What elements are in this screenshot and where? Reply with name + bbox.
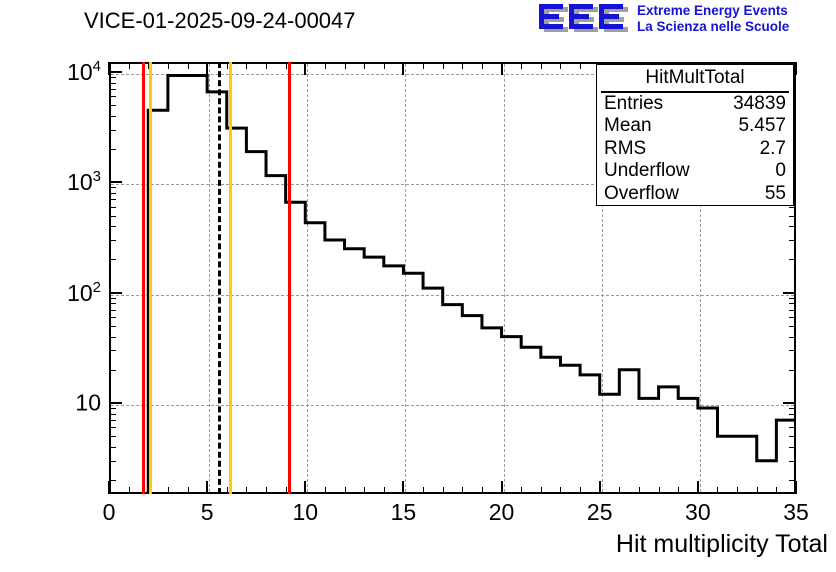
eee-logo-text: Extreme Energy Events La Scienza nelle S… <box>637 3 789 35</box>
y-tick-right-minor <box>789 207 796 208</box>
page-title: VICE-01-2025-09-24-00047 <box>84 8 356 34</box>
y-tick-minor <box>109 83 116 84</box>
stats-row-key: Entries <box>604 93 663 115</box>
x-tick-minor <box>659 487 660 494</box>
x-tick-minor <box>541 487 542 494</box>
y-tick-right-minor <box>789 436 796 437</box>
x-tick-minor <box>521 487 522 494</box>
marker-line-upper-threshold-red <box>288 62 291 494</box>
x-tick-minor <box>325 487 326 494</box>
x-tick-top-minor <box>521 62 522 69</box>
x-tick-minor <box>266 487 267 494</box>
x-tick-top-minor <box>286 62 287 69</box>
y-tick-minor <box>109 350 116 351</box>
y-tick-right-minor <box>789 408 796 409</box>
y-tick-minor <box>109 207 116 208</box>
y-tick-minor <box>109 193 116 194</box>
y-tick-minor <box>109 240 116 241</box>
x-tick-top-major <box>501 62 503 75</box>
stats-title: HitMultTotal <box>601 65 789 93</box>
x-tick-major <box>697 481 699 494</box>
y-tick-minor <box>109 303 116 304</box>
x-tick-top-minor <box>246 62 247 69</box>
y-tick-right-minor <box>789 350 796 351</box>
x-tick-top-minor <box>580 62 581 69</box>
x-tick-minor <box>168 487 169 494</box>
x-tick-minor <box>148 487 149 494</box>
y-tick-right-minor <box>789 480 796 481</box>
y-tick-label: 104 <box>67 58 101 86</box>
stats-row: Overflow55 <box>597 183 793 205</box>
x-tick-top-minor <box>168 62 169 69</box>
stats-row-key: Mean <box>604 115 652 137</box>
x-tick-label: 0 <box>103 499 116 526</box>
x-tick-label: 30 <box>685 499 711 526</box>
x-tick-major <box>206 481 208 494</box>
x-tick-top-major <box>304 62 306 75</box>
marker-line-upper-warn-orange <box>229 62 232 494</box>
x-tick-minor <box>678 487 679 494</box>
marker-line-lower-threshold-red <box>142 62 145 494</box>
x-tick-top-minor <box>148 62 149 69</box>
stats-row-value: 34839 <box>733 93 786 115</box>
stats-row: RMS2.7 <box>597 138 793 160</box>
x-tick-minor <box>757 487 758 494</box>
stats-row-key: Underflow <box>604 160 690 182</box>
x-tick-label: 20 <box>489 499 515 526</box>
y-tick-minor <box>109 96 116 97</box>
x-tick-top-major <box>206 62 208 75</box>
stats-row-value: 5.457 <box>738 115 786 137</box>
x-tick-top-minor <box>541 62 542 69</box>
y-tick-minor <box>109 310 116 311</box>
x-tick-minor <box>129 487 130 494</box>
x-tick-label: 35 <box>783 499 809 526</box>
y-tick-right-minor <box>789 298 796 299</box>
x-tick-major <box>304 481 306 494</box>
x-tick-label: 25 <box>587 499 613 526</box>
x-tick-minor <box>580 487 581 494</box>
y-tick-major <box>109 402 122 404</box>
x-tick-top-minor <box>129 62 130 69</box>
y-tick-minor <box>109 199 116 200</box>
x-tick-major <box>402 481 404 494</box>
x-tick-top-minor <box>227 62 228 69</box>
x-tick-minor <box>639 487 640 494</box>
x-tick-minor <box>717 487 718 494</box>
x-tick-top-minor <box>266 62 267 69</box>
y-tick-minor <box>109 461 116 462</box>
y-tick-right-minor <box>789 226 796 227</box>
x-tick-top-minor <box>443 62 444 69</box>
x-tick-top-major <box>795 62 797 75</box>
y-tick-major <box>109 292 122 294</box>
y-tick-minor <box>109 105 116 106</box>
x-tick-major <box>501 481 503 494</box>
y-tick-minor <box>109 337 116 338</box>
x-tick-top-minor <box>345 62 346 69</box>
y-tick-right-minor <box>789 216 796 217</box>
stats-row-value: 2.7 <box>760 138 786 160</box>
x-tick-minor <box>423 487 424 494</box>
y-tick-minor <box>109 116 116 117</box>
x-tick-minor <box>482 487 483 494</box>
stats-row: Entries34839 <box>597 93 793 115</box>
x-tick-minor <box>776 487 777 494</box>
stats-row-key: RMS <box>604 138 646 160</box>
x-tick-major <box>795 481 797 494</box>
y-tick-label: 103 <box>67 169 101 197</box>
y-tick-minor <box>109 149 116 150</box>
y-tick-right-minor <box>789 310 796 311</box>
y-tick-minor <box>109 436 116 437</box>
x-tick-minor <box>619 487 620 494</box>
y-tick-right-minor <box>789 337 796 338</box>
x-tick-minor <box>560 487 561 494</box>
x-tick-minor <box>286 487 287 494</box>
x-tick-top-minor <box>364 62 365 69</box>
y-tick-right-major <box>783 402 796 404</box>
eee-logo-line1: Extreme Energy Events <box>637 3 789 19</box>
x-tick-major <box>108 481 110 494</box>
y-tick-right-minor <box>789 259 796 260</box>
x-tick-minor <box>364 487 365 494</box>
y-tick-right-minor <box>789 326 796 327</box>
y-tick-minor <box>109 259 116 260</box>
y-tick-right-minor <box>789 427 796 428</box>
y-tick-major <box>109 181 122 183</box>
x-tick-minor <box>188 487 189 494</box>
x-axis-title: Hit multiplicity Total <box>616 530 828 559</box>
x-tick-label: 5 <box>201 499 214 526</box>
x-tick-top-major <box>108 62 110 75</box>
y-tick-minor <box>109 298 116 299</box>
y-tick-minor <box>109 77 116 78</box>
x-tick-top-minor <box>482 62 483 69</box>
y-tick-right-minor <box>789 414 796 415</box>
stats-box[interactable]: HitMultTotal Entries34839Mean5.457RMS2.7… <box>596 64 794 206</box>
y-tick-minor <box>109 480 116 481</box>
y-tick-minor <box>109 326 116 327</box>
stats-row-key: Overflow <box>604 183 679 205</box>
x-tick-label: 10 <box>292 499 318 526</box>
y-tick-right-minor <box>789 317 796 318</box>
marker-line-lower-warn-orange <box>149 62 152 494</box>
y-tick-right-minor <box>789 447 796 448</box>
eee-logo-line2: La Scienza nelle Scuole <box>637 19 789 35</box>
x-tick-minor <box>384 487 385 494</box>
x-tick-minor <box>737 487 738 494</box>
y-tick-minor <box>109 447 116 448</box>
y-tick-minor <box>109 317 116 318</box>
stats-row-value: 55 <box>765 183 786 205</box>
x-tick-minor <box>246 487 247 494</box>
marker-line-mean-black <box>218 62 221 494</box>
x-tick-top-minor <box>325 62 326 69</box>
y-tick-label: 102 <box>67 279 101 307</box>
eee-logo: Extreme Energy Events La Scienza nelle S… <box>537 2 836 42</box>
x-tick-top-minor <box>462 62 463 69</box>
y-tick-minor <box>109 226 116 227</box>
y-tick-right-major <box>783 292 796 294</box>
stats-row-value: 0 <box>775 160 786 182</box>
y-tick-minor <box>109 408 116 409</box>
plot-canvas: VICE-01-2025-09-24-00047 <box>0 0 836 572</box>
x-tick-top-minor <box>560 62 561 69</box>
y-tick-right-minor <box>789 420 796 421</box>
x-tick-minor <box>462 487 463 494</box>
y-tick-label: 10 <box>75 389 101 416</box>
y-tick-minor <box>109 414 116 415</box>
x-tick-major <box>599 481 601 494</box>
x-tick-minor <box>345 487 346 494</box>
y-tick-minor <box>109 89 116 90</box>
x-tick-top-minor <box>423 62 424 69</box>
x-tick-top-major <box>402 62 404 75</box>
y-tick-right-minor <box>789 303 796 304</box>
y-tick-right-minor <box>789 370 796 371</box>
y-tick-right-minor <box>789 240 796 241</box>
y-tick-minor <box>109 420 116 421</box>
x-tick-minor <box>227 487 228 494</box>
eee-logo-mark <box>537 2 633 36</box>
y-tick-minor <box>109 427 116 428</box>
y-tick-minor <box>109 130 116 131</box>
y-tick-minor <box>109 187 116 188</box>
stats-row: Underflow0 <box>597 160 793 182</box>
x-tick-minor <box>443 487 444 494</box>
y-tick-minor <box>109 216 116 217</box>
y-tick-major <box>109 71 122 73</box>
y-tick-right-minor <box>789 461 796 462</box>
x-tick-top-minor <box>188 62 189 69</box>
y-tick-minor <box>109 370 116 371</box>
stats-row: Mean5.457 <box>597 115 793 137</box>
x-tick-label: 15 <box>391 499 417 526</box>
x-tick-top-minor <box>384 62 385 69</box>
